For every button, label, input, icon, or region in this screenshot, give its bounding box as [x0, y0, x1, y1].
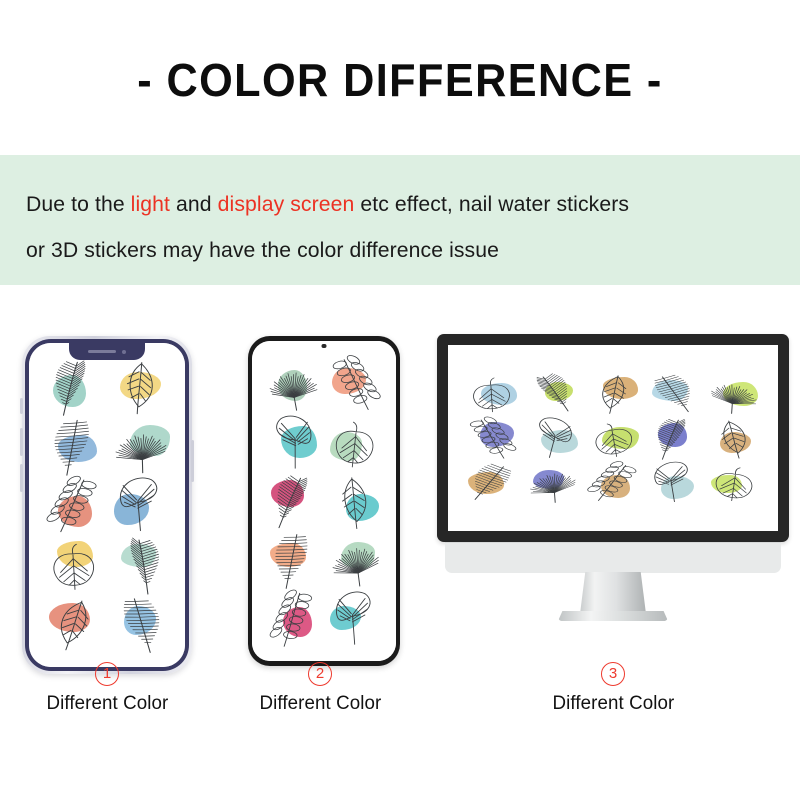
sticker-leaf-icon: [318, 524, 391, 595]
sticker-leaf-icon: [260, 351, 327, 415]
phone-power-button: [191, 440, 194, 482]
sticker-artwork-iphone: [29, 343, 185, 667]
sticker-artwork-android: [252, 341, 396, 661]
sticker-leaf-icon: [260, 410, 327, 474]
sticker-item: [262, 589, 324, 648]
sticker-leaf-icon: [460, 370, 523, 418]
sticker-item: [262, 354, 324, 413]
page-title: - COLOR DIFFERENCE -: [24, 52, 776, 108]
iphone-frame: [25, 339, 189, 671]
caption-item-2: 2 Different Color: [240, 662, 400, 715]
sticker-item: [324, 530, 386, 589]
sticker-grid: [252, 341, 396, 661]
sticker-artwork-monitor: [448, 345, 778, 531]
sticker-item: [107, 594, 174, 653]
iphone-screen: [29, 343, 185, 667]
android-screen: [252, 341, 396, 661]
sticker-item: [583, 371, 644, 415]
notice-text-part2: and: [170, 192, 218, 216]
sticker-item: [461, 416, 522, 460]
monitor-bezel: [437, 334, 789, 542]
sticker-leaf-icon: [321, 410, 389, 475]
sticker-item: [522, 371, 583, 415]
monitor-stand-neck: [580, 572, 646, 614]
sticker-leaf-icon: [457, 454, 526, 510]
device-showcase: [0, 320, 800, 670]
sticker-item: [704, 460, 765, 504]
notice-highlight-display-screen: display screen: [218, 192, 355, 216]
caption-item-3: 3 Different Color: [437, 662, 789, 715]
notice-highlight-light: light: [131, 192, 170, 216]
notice-text-part1: Due to the: [26, 192, 131, 216]
sticker-item: [40, 357, 107, 416]
sticker-item: [262, 472, 324, 531]
earpiece-speaker-icon: [88, 350, 116, 353]
sticker-leaf-icon: [257, 584, 328, 653]
sticker-item: [643, 371, 704, 415]
sticker-leaf-icon: [35, 588, 112, 659]
sticker-item: [643, 460, 704, 504]
sticker-leaf-icon: [34, 409, 113, 482]
sticker-leaf-icon: [642, 459, 705, 507]
caption-item-1: 1 Different Color: [22, 662, 192, 715]
notice-line-1: Due to the light and display screen etc …: [26, 181, 765, 227]
sticker-item: [107, 416, 174, 475]
step-badge-2: 2: [308, 662, 332, 686]
sticker-grid: [29, 343, 185, 667]
sticker-leaf-icon: [107, 475, 174, 534]
notice-line-2: or 3D stickers may have the color differ…: [26, 227, 765, 273]
caption-label-3: Different Color: [552, 692, 674, 715]
sticker-leaf-icon: [581, 458, 645, 507]
sticker-item: [461, 460, 522, 504]
device-monitor: [437, 334, 789, 670]
sticker-item: [262, 413, 324, 472]
sticker-item: [643, 416, 704, 460]
sticker-leaf-icon: [103, 590, 177, 658]
front-camera-icon: [122, 350, 126, 354]
device-android-phone: [248, 336, 400, 666]
sticker-leaf-icon: [518, 455, 586, 511]
sticker-item: [522, 460, 583, 504]
sticker-leaf-icon: [323, 471, 386, 531]
phone-volume-up-button: [20, 428, 23, 456]
phone-mute-switch: [20, 398, 23, 414]
device-iphone: [22, 336, 192, 674]
sticker-item: [704, 371, 765, 415]
monitor-chin: [445, 542, 781, 573]
sticker-item: [522, 416, 583, 460]
sticker-grid: [448, 345, 778, 531]
sticker-leaf-icon: [641, 367, 707, 420]
sticker-leaf-icon: [103, 412, 177, 479]
sticker-leaf-icon: [260, 470, 325, 532]
monitor-stand-base: [558, 611, 668, 621]
caption-label-2: Different Color: [259, 692, 381, 715]
sticker-leaf-icon: [38, 473, 109, 537]
sticker-leaf-icon: [642, 414, 705, 462]
sticker-leaf-icon: [38, 533, 108, 596]
notice-text-part3: etc effect, nail water stickers: [354, 192, 629, 216]
sticker-item: [324, 354, 386, 413]
sticker-item: [324, 413, 386, 472]
sticker-item: [461, 371, 522, 415]
sticker-item: [40, 594, 107, 653]
sticker-item: [40, 416, 107, 475]
caption-label-1: Different Color: [46, 692, 168, 715]
notice-banner: Due to the light and display screen etc …: [0, 155, 800, 285]
front-camera-icon: [322, 344, 327, 348]
sticker-leaf-icon: [701, 456, 767, 509]
sticker-item: [262, 530, 324, 589]
sticker-leaf-icon: [324, 589, 387, 648]
caption-row: 1 Different Color 2 Different Color 3 Di…: [0, 662, 800, 752]
monitor-screen: [448, 345, 778, 531]
phone-volume-down-button: [20, 464, 23, 492]
sticker-item: [324, 589, 386, 648]
sticker-leaf-icon: [324, 353, 387, 413]
sticker-leaf-icon: [581, 370, 644, 418]
sticker-item: [40, 535, 107, 594]
sticker-item: [107, 475, 174, 534]
sticker-item: [583, 460, 644, 504]
step-badge-1: 1: [95, 662, 119, 686]
sticker-item: [107, 535, 174, 594]
sticker-item: [704, 416, 765, 460]
sticker-item: [40, 475, 107, 534]
step-badge-3: 3: [601, 662, 625, 686]
sticker-item: [583, 416, 644, 460]
sticker-item: [324, 472, 386, 531]
sticker-item: [107, 357, 174, 416]
notch: [69, 343, 145, 360]
